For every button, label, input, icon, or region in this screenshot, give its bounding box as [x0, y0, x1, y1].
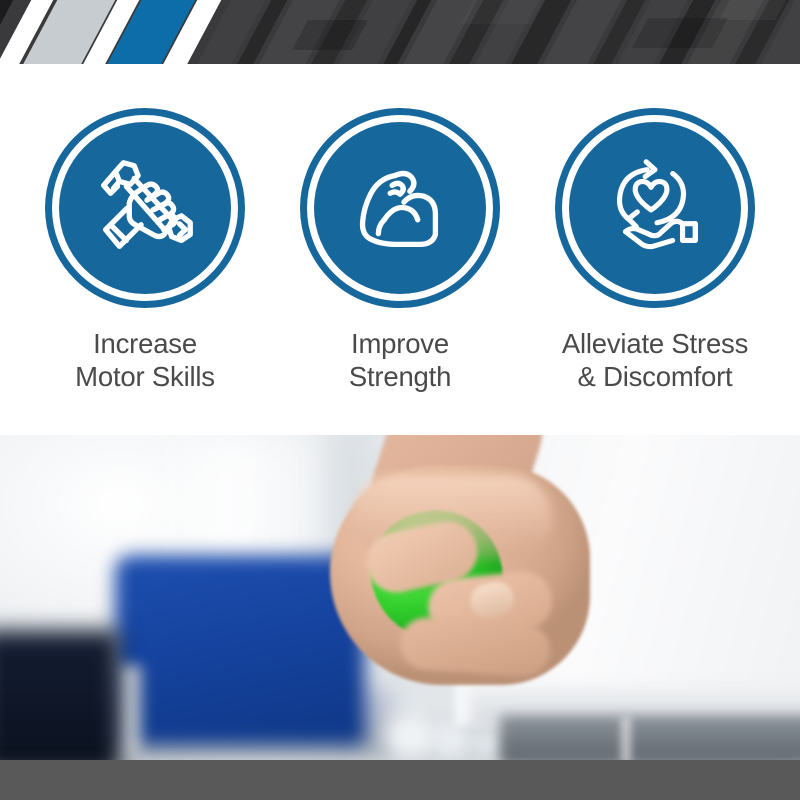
bottom-gray-bar — [0, 760, 800, 800]
photo-dark-foreground-object — [0, 630, 120, 760]
hand-holding-wrench-icon — [59, 122, 231, 294]
feature-improve-strength: Improve Strength — [293, 108, 508, 394]
texture-block — [632, 18, 728, 48]
feature-badge — [45, 108, 245, 308]
flexed-bicep-muscle-icon — [314, 122, 486, 294]
feature-badge — [300, 108, 500, 308]
hand-squeezing-green-stress-ball-photo — [0, 435, 800, 760]
feature-label: Increase Motor Skills — [75, 327, 215, 394]
feature-increase-motor-skills: Increase Motor Skills — [38, 108, 253, 394]
photo-pants-fold — [618, 717, 634, 760]
feature-alleviate-stress-discomfort: Alleviate Stress & Discomfort — [548, 108, 763, 394]
feature-badge — [555, 108, 755, 308]
photo-gray-pants — [500, 715, 800, 760]
hand-holding-heart-recycle-icon — [569, 122, 741, 294]
page-root: Increase Motor Skills — [0, 0, 800, 800]
feature-row: Increase Motor Skills — [0, 64, 800, 435]
feature-label: Alleviate Stress & Discomfort — [562, 327, 748, 394]
photo-blue-chair — [115, 555, 365, 745]
decorative-diagonal-stripe-banner — [0, 0, 800, 64]
feature-label: Improve Strength — [349, 327, 451, 394]
photo-finger — [398, 616, 551, 678]
